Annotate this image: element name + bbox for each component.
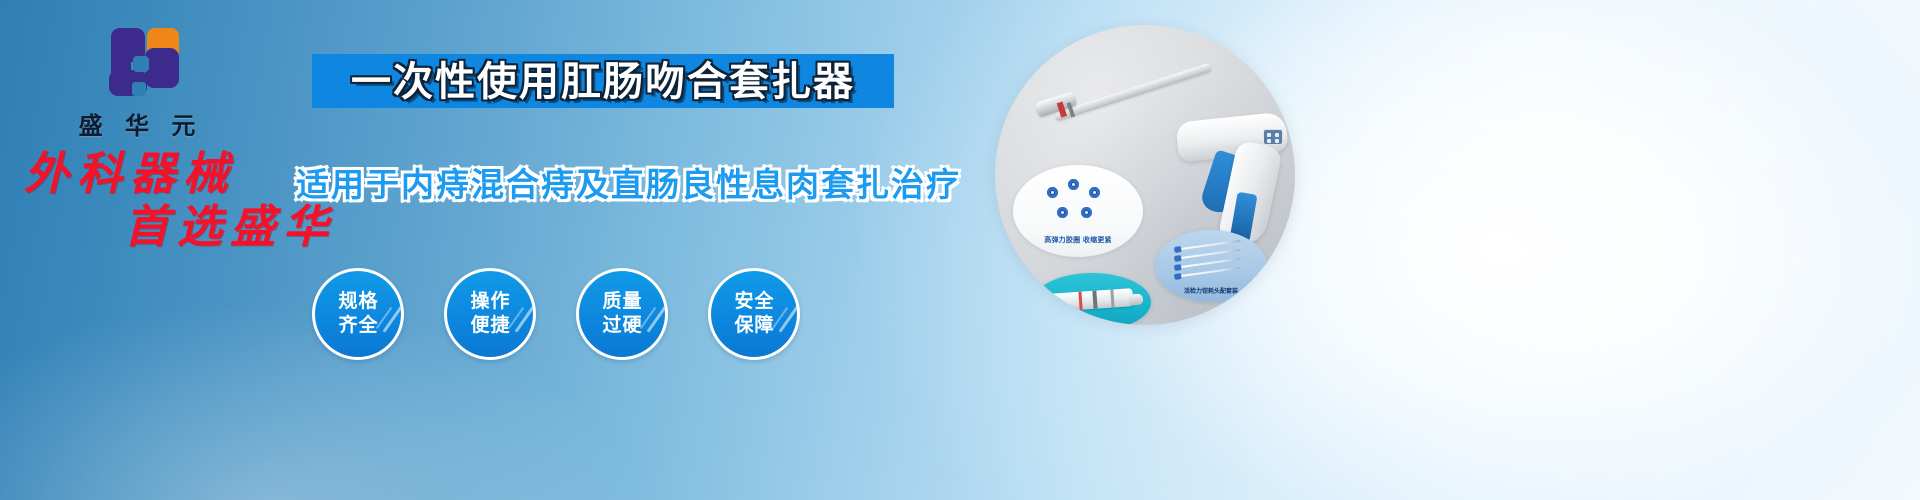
feature-badge-specification-line2: 齐全 [337, 314, 378, 338]
slogan-line-2: 首选盛华 [124, 203, 336, 252]
badge-sheen-icon [515, 303, 536, 333]
feature-badge-operation-line1: 操作 [469, 290, 510, 314]
feature-badge-quality[interactable]: 质量 过硬 [576, 268, 668, 360]
subtitle-text: 适用于内痔混合痔及直肠良性息肉套扎治疗 [296, 158, 961, 206]
feature-badge-safety-line1: 安全 [733, 290, 774, 314]
product-banner: 盛 华 元 一次性使用肛肠吻合套扎器 适用于内痔混合痔及直肠良性息肉套扎治疗 外… [0, 0, 1920, 500]
feature-badge-safety-line2: 保障 [733, 314, 774, 338]
rubber-band-icon [1089, 187, 1100, 198]
badge-sheen-icon [383, 303, 404, 333]
title-banner-bar: 一次性使用肛肠吻合套扎器 [312, 54, 894, 108]
logo-square-right [145, 48, 179, 88]
rubber-band-icon [1081, 207, 1092, 218]
brand-logo-block[interactable]: 盛 华 元 [62, 26, 212, 141]
logo-notch-upper [133, 56, 149, 72]
inset-needles-caption: 活检力钳耗头配套装 [1155, 286, 1267, 295]
feature-badge-specification-line1: 规格 [337, 290, 378, 314]
slogan-block: 外科器械 首选盛华 [24, 150, 336, 251]
needle-icon [1179, 258, 1241, 269]
feature-badge-quality-line1: 质量 [601, 290, 642, 314]
inset-rubber-bands: 高弹力胶圈 收缩更紧 [1013, 165, 1143, 257]
feature-badge-safety[interactable]: 安全 保障 [708, 268, 800, 360]
inset-needles: 活检力钳耗头配套装 [1155, 230, 1267, 302]
feature-badge-specification[interactable]: 规格 齐全 [312, 268, 404, 360]
company-name: 盛 华 元 [62, 106, 212, 141]
inset-rubber-bands-caption: 高弹力胶圈 收缩更紧 [1013, 235, 1143, 245]
rubber-band-icon [1057, 207, 1068, 218]
page-title: 一次性使用肛肠吻合套扎器 [351, 62, 855, 102]
needle-icon [1179, 249, 1241, 260]
feature-badge-operation-line2: 便捷 [469, 314, 510, 338]
cartridge-icon [1048, 288, 1133, 312]
inset-cartridge [1033, 273, 1151, 325]
rubber-band-icon [1047, 187, 1058, 198]
feature-badge-operation[interactable]: 操作 便捷 [444, 268, 536, 360]
feature-badge-list: 规格 齐全 操作 便捷 质量 过硬 安全 保障 [312, 268, 800, 360]
badge-sheen-icon [647, 303, 668, 333]
product-photo: 高弹力胶圈 收缩更紧 活检力钳耗头配套装 [995, 25, 1295, 325]
feature-badge-quality-line2: 过硬 [601, 314, 642, 338]
badge-sheen-icon [779, 303, 800, 333]
device-button-pad [1263, 129, 1283, 145]
cartridge-tip [1129, 294, 1144, 306]
needle-icon [1179, 267, 1241, 278]
shenghuayuan-logo-icon [89, 26, 185, 100]
logo-notch-lower [132, 82, 146, 96]
slogan-line-1: 外科器械 [24, 150, 336, 199]
rubber-band-icon [1068, 179, 1079, 190]
needle-icon [1179, 240, 1241, 251]
